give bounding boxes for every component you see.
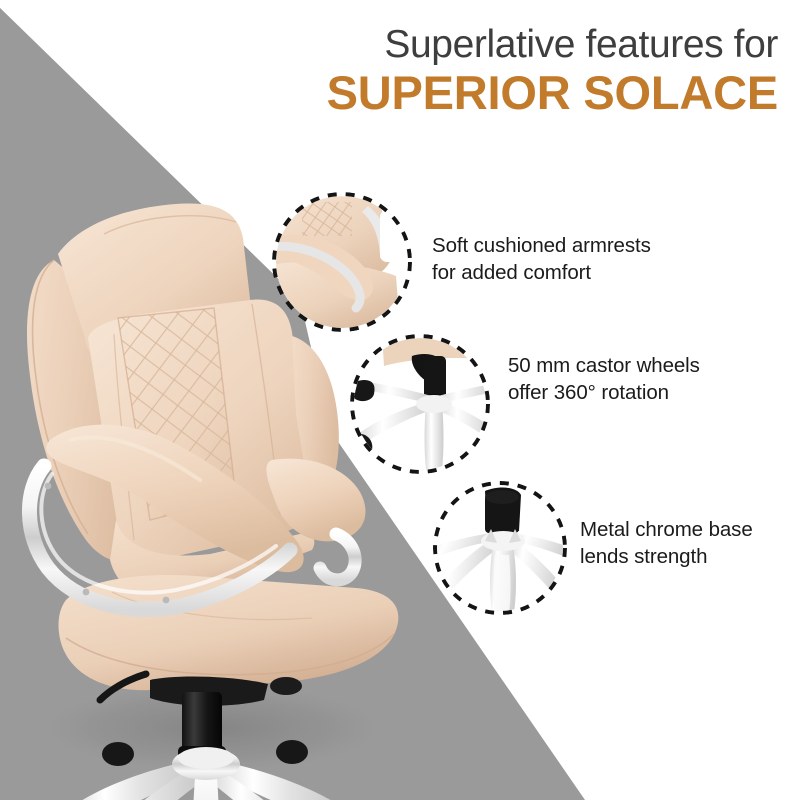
chrome-base-detail-circle xyxy=(437,485,563,611)
callout-chrome-base-text: Metal chrome base lends strength xyxy=(580,516,753,571)
callout-castor-text: 50 mm castor wheels offer 360° rotation xyxy=(508,352,700,407)
callout-armrest-line2: for added comfort xyxy=(432,259,651,286)
caster-wheel-5-rear-right xyxy=(276,740,308,764)
callout-castor-line1: 50 mm castor wheels xyxy=(508,354,700,377)
armrest-detail-circle xyxy=(276,196,408,328)
base-hub-top xyxy=(178,747,234,769)
infographic-canvas: Superlative features for SUPERIOR SOLACE xyxy=(0,0,800,800)
castor-wheel-detail-circle xyxy=(354,338,486,470)
title-line-accent: SUPERIOR SOLACE xyxy=(0,67,778,120)
armrest-bolt-left-2 xyxy=(83,589,90,596)
callout-armrest-line1: Soft cushioned armrests xyxy=(432,234,651,257)
page-title: Superlative features for SUPERIOR SOLACE xyxy=(0,24,790,120)
caster-wheel-4-rear-left xyxy=(102,742,134,766)
callout-castor-line2: offer 360° rotation xyxy=(508,379,700,406)
title-line-primary: Superlative features for xyxy=(0,24,778,65)
callout-chrome-base-line1: Metal chrome base xyxy=(580,518,753,541)
armrest-bolt-left xyxy=(45,483,52,490)
callout-chrome-base-line2: lends strength xyxy=(580,543,753,570)
tilt-knob-right xyxy=(270,677,302,695)
armrest-bolt-left-3 xyxy=(163,597,170,604)
callout-armrest-text: Soft cushioned armrests for added comfor… xyxy=(432,232,651,287)
